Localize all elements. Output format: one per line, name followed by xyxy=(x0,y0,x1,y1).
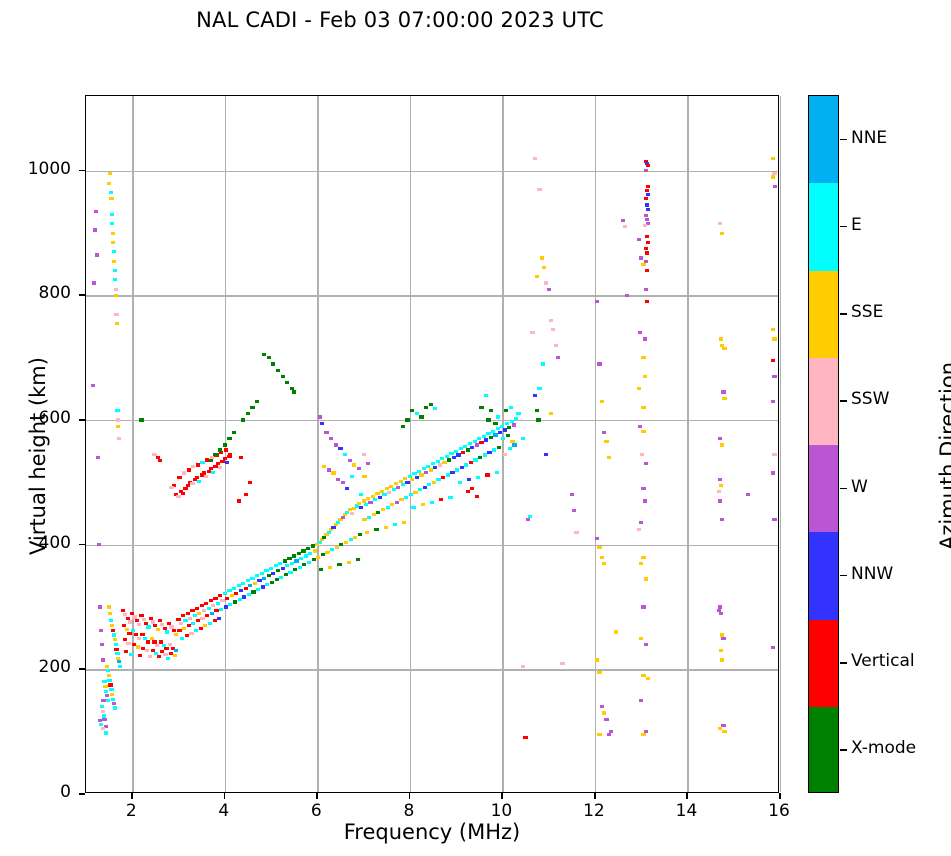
data-point xyxy=(479,406,483,409)
data-point xyxy=(544,281,548,284)
data-point xyxy=(445,455,449,458)
data-point xyxy=(638,425,642,428)
y-tick xyxy=(79,419,85,421)
data-point xyxy=(318,415,322,418)
data-point xyxy=(110,213,114,216)
data-point xyxy=(227,437,231,440)
data-point xyxy=(644,462,648,465)
data-point xyxy=(298,566,302,569)
x-tick-label: 16 xyxy=(749,801,809,821)
data-point xyxy=(125,628,129,631)
data-point xyxy=(116,418,120,421)
colorbar-tick xyxy=(840,400,847,402)
data-point xyxy=(431,462,435,465)
data-point xyxy=(357,467,361,470)
x-tick-label: 4 xyxy=(194,801,254,821)
data-point xyxy=(364,503,368,506)
data-point xyxy=(516,412,520,415)
data-point xyxy=(372,513,376,516)
data-point xyxy=(493,422,497,425)
data-point xyxy=(646,241,650,244)
colorbar-segment-e xyxy=(809,183,838,270)
data-point xyxy=(621,219,625,222)
data-point xyxy=(643,337,647,340)
data-point xyxy=(390,503,394,506)
data-point xyxy=(216,602,220,605)
data-point xyxy=(641,406,645,409)
data-point xyxy=(503,428,507,431)
data-point xyxy=(306,547,310,550)
colorbar-label-nnw: NNW xyxy=(851,564,893,584)
data-point xyxy=(405,418,409,421)
data-point xyxy=(772,453,776,456)
data-point xyxy=(385,487,389,490)
data-point xyxy=(468,442,472,445)
colorbar-segment-sse xyxy=(809,271,838,358)
data-point xyxy=(560,662,564,665)
data-point xyxy=(602,431,606,434)
data-point xyxy=(491,430,495,433)
data-point xyxy=(639,521,643,524)
data-point xyxy=(202,609,206,612)
data-point xyxy=(512,443,516,446)
data-point xyxy=(433,466,437,469)
data-point xyxy=(131,629,135,632)
data-point xyxy=(378,496,382,499)
data-point xyxy=(177,476,181,479)
data-point xyxy=(152,640,156,643)
data-point xyxy=(641,487,645,490)
data-point xyxy=(151,620,155,623)
data-point xyxy=(116,425,120,428)
data-point xyxy=(321,553,325,556)
data-point xyxy=(461,451,465,454)
data-point xyxy=(103,685,107,688)
data-point xyxy=(719,649,723,652)
data-point xyxy=(163,627,167,630)
data-point xyxy=(99,629,103,632)
data-point xyxy=(290,562,294,565)
data-point xyxy=(458,481,462,484)
data-point xyxy=(285,381,289,384)
data-point xyxy=(646,185,650,188)
colorbar-tick xyxy=(840,488,847,490)
data-point xyxy=(128,620,132,623)
x-tick xyxy=(779,793,781,799)
colorbar-segment-nnw xyxy=(809,532,838,619)
data-point xyxy=(211,604,215,607)
data-point xyxy=(371,495,375,498)
data-point xyxy=(362,453,366,456)
data-point xyxy=(595,300,599,303)
data-point xyxy=(288,571,292,574)
data-point xyxy=(602,562,606,565)
data-point xyxy=(535,409,539,412)
data-point xyxy=(126,642,130,645)
data-point xyxy=(718,222,722,225)
data-point xyxy=(173,654,177,657)
data-point xyxy=(473,458,477,461)
data-point xyxy=(174,649,178,652)
data-point xyxy=(271,572,275,575)
data-point xyxy=(771,157,775,160)
data-point xyxy=(469,461,473,464)
data-point xyxy=(180,637,184,640)
data-point xyxy=(265,583,269,586)
data-point xyxy=(145,649,149,652)
data-point xyxy=(455,468,459,471)
data-point xyxy=(208,622,212,625)
data-point xyxy=(101,699,105,702)
data-point xyxy=(353,536,357,539)
data-point xyxy=(773,185,777,188)
data-point xyxy=(112,633,116,636)
colorbar-tick xyxy=(840,749,847,751)
data-point xyxy=(186,484,190,487)
data-point xyxy=(241,582,245,585)
data-point xyxy=(362,518,366,521)
data-point xyxy=(415,476,419,479)
data-point xyxy=(139,418,143,421)
data-point xyxy=(637,528,641,531)
data-point xyxy=(117,437,121,440)
data-point xyxy=(432,481,436,484)
data-point xyxy=(637,387,641,390)
data-point xyxy=(101,727,105,730)
data-point xyxy=(645,269,649,272)
data-point xyxy=(95,253,99,256)
data-point xyxy=(771,359,775,362)
data-point xyxy=(301,549,305,552)
data-point xyxy=(485,473,489,476)
data-point xyxy=(247,593,251,596)
data-point xyxy=(477,437,481,440)
data-point xyxy=(107,674,111,677)
data-point xyxy=(307,561,311,564)
data-point xyxy=(158,459,162,462)
colorbar-tick xyxy=(840,313,847,315)
data-point xyxy=(556,356,560,359)
data-point xyxy=(262,353,266,356)
data-point xyxy=(335,546,339,549)
data-point xyxy=(137,637,141,640)
data-point xyxy=(476,476,480,479)
data-point xyxy=(644,169,648,172)
data-point xyxy=(392,488,396,491)
data-point xyxy=(109,197,113,200)
data-point xyxy=(357,502,361,505)
y-tick xyxy=(79,294,85,296)
data-point xyxy=(526,518,530,521)
data-point xyxy=(350,512,354,515)
data-point xyxy=(239,589,243,592)
data-point xyxy=(368,501,372,504)
data-point xyxy=(639,562,643,565)
data-point xyxy=(359,506,363,509)
data-point xyxy=(109,619,113,622)
data-point xyxy=(429,468,433,471)
data-point xyxy=(169,625,173,628)
data-point xyxy=(97,543,101,546)
data-point xyxy=(365,531,369,534)
data-point xyxy=(402,521,406,524)
data-point xyxy=(496,415,500,418)
data-point xyxy=(438,463,442,466)
data-point xyxy=(297,552,301,555)
data-point xyxy=(269,567,273,570)
data-point xyxy=(102,718,106,721)
data-point xyxy=(195,607,199,610)
data-point xyxy=(207,607,211,610)
data-point xyxy=(105,665,109,668)
data-point xyxy=(96,456,100,459)
data-point xyxy=(549,319,553,322)
data-point xyxy=(203,624,207,627)
data-point xyxy=(228,453,232,456)
data-point xyxy=(484,394,488,397)
data-point xyxy=(200,604,204,607)
data-point xyxy=(359,493,363,496)
data-point xyxy=(412,472,416,475)
data-point xyxy=(440,457,444,460)
data-point xyxy=(772,518,776,521)
data-point xyxy=(100,643,104,646)
data-point xyxy=(267,356,271,359)
data-point xyxy=(595,537,599,540)
data-point xyxy=(213,619,217,622)
data-point xyxy=(190,482,194,485)
data-point xyxy=(186,612,190,615)
data-point xyxy=(210,612,214,615)
data-point xyxy=(104,731,108,734)
data-point xyxy=(284,573,288,576)
data-point xyxy=(495,471,499,474)
data-point xyxy=(248,481,252,484)
data-point xyxy=(409,493,413,496)
data-point xyxy=(486,418,490,421)
data-point xyxy=(504,409,508,412)
colorbar-label-w: W xyxy=(851,477,868,497)
data-point xyxy=(225,461,229,464)
data-point xyxy=(470,446,474,449)
data-point xyxy=(643,224,647,227)
data-point xyxy=(404,496,408,499)
data-point xyxy=(276,569,280,572)
data-point xyxy=(330,548,334,551)
data-point xyxy=(114,313,118,316)
data-point xyxy=(350,475,354,478)
data-point xyxy=(204,475,208,478)
data-point xyxy=(191,465,195,468)
data-point xyxy=(721,637,725,640)
data-point xyxy=(530,331,534,334)
data-point xyxy=(248,584,252,587)
data-point xyxy=(197,480,201,483)
data-point xyxy=(487,451,491,454)
x-axis-title: Frequency (MHz) xyxy=(85,820,779,844)
data-point xyxy=(230,594,234,597)
data-point xyxy=(349,538,353,541)
data-point xyxy=(281,375,285,378)
data-point xyxy=(393,523,397,526)
data-point xyxy=(194,629,198,632)
data-point xyxy=(196,619,200,622)
data-point xyxy=(200,617,204,620)
data-point xyxy=(337,563,341,566)
data-point xyxy=(246,412,250,415)
data-point xyxy=(183,619,187,622)
data-point xyxy=(413,491,417,494)
data-point xyxy=(188,617,192,620)
data-point xyxy=(213,453,217,456)
data-point xyxy=(152,453,156,456)
data-point xyxy=(614,630,618,633)
data-point xyxy=(535,275,539,278)
data-point xyxy=(111,232,115,235)
x-tick-label: 8 xyxy=(379,801,439,821)
data-point xyxy=(771,175,775,178)
data-point xyxy=(427,483,431,486)
data-point xyxy=(334,443,338,446)
data-point xyxy=(721,390,725,393)
data-point xyxy=(281,567,285,570)
data-point xyxy=(375,492,379,495)
data-point xyxy=(460,466,464,469)
data-point xyxy=(227,589,231,592)
data-point xyxy=(554,344,558,347)
data-point xyxy=(644,197,648,200)
data-point xyxy=(373,498,377,501)
data-point xyxy=(722,347,726,350)
data-point xyxy=(319,568,323,571)
data-point xyxy=(386,506,390,509)
data-point xyxy=(327,468,331,471)
data-point xyxy=(108,172,112,175)
data-point xyxy=(234,592,238,595)
data-point xyxy=(94,210,98,213)
colorbar-label-sse: SSE xyxy=(851,302,883,322)
plot-area xyxy=(85,95,779,793)
data-point xyxy=(508,447,512,450)
data-point xyxy=(399,498,403,501)
data-point xyxy=(639,699,643,702)
data-point xyxy=(256,588,260,591)
x-tick xyxy=(686,793,688,799)
x-tick-label: 10 xyxy=(471,801,531,821)
data-point xyxy=(275,578,279,581)
data-point xyxy=(574,531,578,534)
data-point xyxy=(442,461,446,464)
data-point xyxy=(645,189,649,192)
data-point xyxy=(110,222,114,225)
data-point xyxy=(429,403,433,406)
data-point xyxy=(195,476,199,479)
data-point xyxy=(185,634,189,637)
data-point xyxy=(645,235,649,238)
colorbar-tick xyxy=(840,226,847,228)
data-point xyxy=(165,630,169,633)
data-point xyxy=(644,247,648,250)
data-point xyxy=(459,447,463,450)
data-point xyxy=(113,278,117,281)
data-point xyxy=(496,427,500,430)
data-point xyxy=(246,579,250,582)
data-point xyxy=(190,609,194,612)
data-point xyxy=(641,733,645,736)
x-tick-label: 14 xyxy=(656,801,716,821)
data-point xyxy=(153,624,157,627)
data-point xyxy=(423,486,427,489)
data-point xyxy=(255,400,259,403)
data-point xyxy=(403,477,407,480)
data-point xyxy=(466,448,470,451)
y-tick xyxy=(79,668,85,670)
data-point xyxy=(293,568,297,571)
y-axis-title: Virtual height (km) xyxy=(26,276,50,636)
data-point xyxy=(331,471,335,474)
data-point xyxy=(401,425,405,428)
data-point xyxy=(179,622,183,625)
colorbar-segment-nne xyxy=(809,96,838,183)
data-point xyxy=(466,490,470,493)
data-point xyxy=(489,409,493,412)
data-point xyxy=(338,447,342,450)
data-point xyxy=(274,564,278,567)
data-point xyxy=(382,493,386,496)
colorbar-tick xyxy=(840,139,847,141)
data-point xyxy=(211,471,215,474)
data-point xyxy=(408,475,412,478)
data-point xyxy=(225,597,229,600)
data-point xyxy=(366,462,370,465)
data-point xyxy=(214,609,218,612)
colorbar-segment-w xyxy=(809,445,838,532)
y-tick-label: 200 xyxy=(9,657,71,677)
data-point xyxy=(421,503,425,506)
data-point xyxy=(446,473,450,476)
data-point xyxy=(450,471,454,474)
data-point xyxy=(362,499,366,502)
data-point xyxy=(320,422,324,425)
data-point xyxy=(549,412,553,415)
data-point xyxy=(299,557,303,560)
data-point xyxy=(641,605,645,608)
data-point xyxy=(176,618,180,621)
data-point xyxy=(316,556,320,559)
data-point xyxy=(597,362,601,365)
data-point xyxy=(509,406,513,409)
data-point xyxy=(135,619,139,622)
data-point xyxy=(395,501,399,504)
data-point xyxy=(597,733,601,736)
data-point xyxy=(641,430,645,433)
data-point xyxy=(646,193,650,196)
data-point xyxy=(217,617,221,620)
data-point xyxy=(470,487,474,490)
data-point xyxy=(345,487,349,490)
data-point xyxy=(239,456,243,459)
x-tick xyxy=(316,793,318,799)
data-point xyxy=(644,214,648,217)
data-point xyxy=(136,645,140,648)
data-point xyxy=(189,632,193,635)
data-point xyxy=(607,456,611,459)
data-point xyxy=(639,256,643,259)
data-point xyxy=(771,400,775,403)
data-point xyxy=(124,650,128,653)
data-point xyxy=(219,608,223,611)
data-point xyxy=(411,506,415,509)
